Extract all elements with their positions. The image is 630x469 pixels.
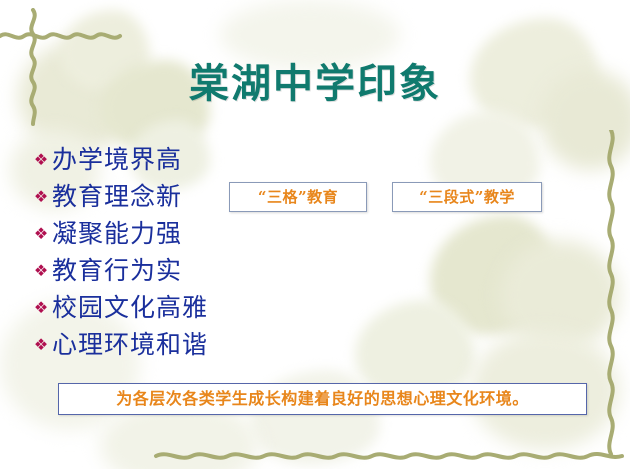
summary-banner: 为各层次各类学生成长构建着良好的思想心理文化环境。: [58, 383, 587, 415]
diamond-bullet-icon: ❖: [30, 226, 52, 242]
list-item-label: 心理环境和谐: [52, 331, 208, 359]
diamond-bullet-icon: ❖: [30, 337, 52, 353]
summary-banner-text: 为各层次各类学生成长构建着良好的思想心理文化环境。: [116, 390, 529, 408]
list-item-label: 校园文化高雅: [52, 294, 208, 322]
list-item-label: 教育理念新: [52, 183, 182, 211]
list-item: ❖ 凝聚能力强: [30, 215, 280, 252]
slide-title: 棠湖中学印象: [0, 60, 630, 108]
list-item-label: 教育行为实: [52, 257, 182, 285]
tag-box-sanduanshi-teaching: “三段式”教学: [392, 182, 542, 212]
list-item-label: 凝聚能力强: [52, 220, 182, 248]
list-item: ❖ 心理环境和谐: [30, 326, 280, 363]
diamond-bullet-icon: ❖: [30, 263, 52, 279]
decoration-bottom-horizontal-wave: [150, 440, 628, 468]
list-item: ❖ 校园文化高雅: [30, 289, 280, 326]
list-item: ❖ 办学境界高: [30, 141, 280, 178]
diamond-bullet-icon: ❖: [30, 300, 52, 316]
list-item-label: 办学境界高: [52, 146, 182, 174]
diamond-bullet-icon: ❖: [30, 189, 52, 205]
impression-bullet-list: ❖ 办学境界高 ❖ 教育理念新 ❖ 凝聚能力强 ❖ 教育行为实 ❖ 校园文化高雅…: [30, 141, 280, 363]
decoration-right-vertical-wave: [598, 130, 624, 460]
list-item: ❖ 教育行为实: [30, 252, 280, 289]
slide-canvas: 棠湖中学印象 ❖ 办学境界高 ❖ 教育理念新 ❖ 凝聚能力强 ❖ 教育行为实 ❖…: [0, 0, 630, 469]
diamond-bullet-icon: ❖: [30, 152, 52, 168]
tag-box-sange-education: “三格”教育: [229, 182, 367, 212]
